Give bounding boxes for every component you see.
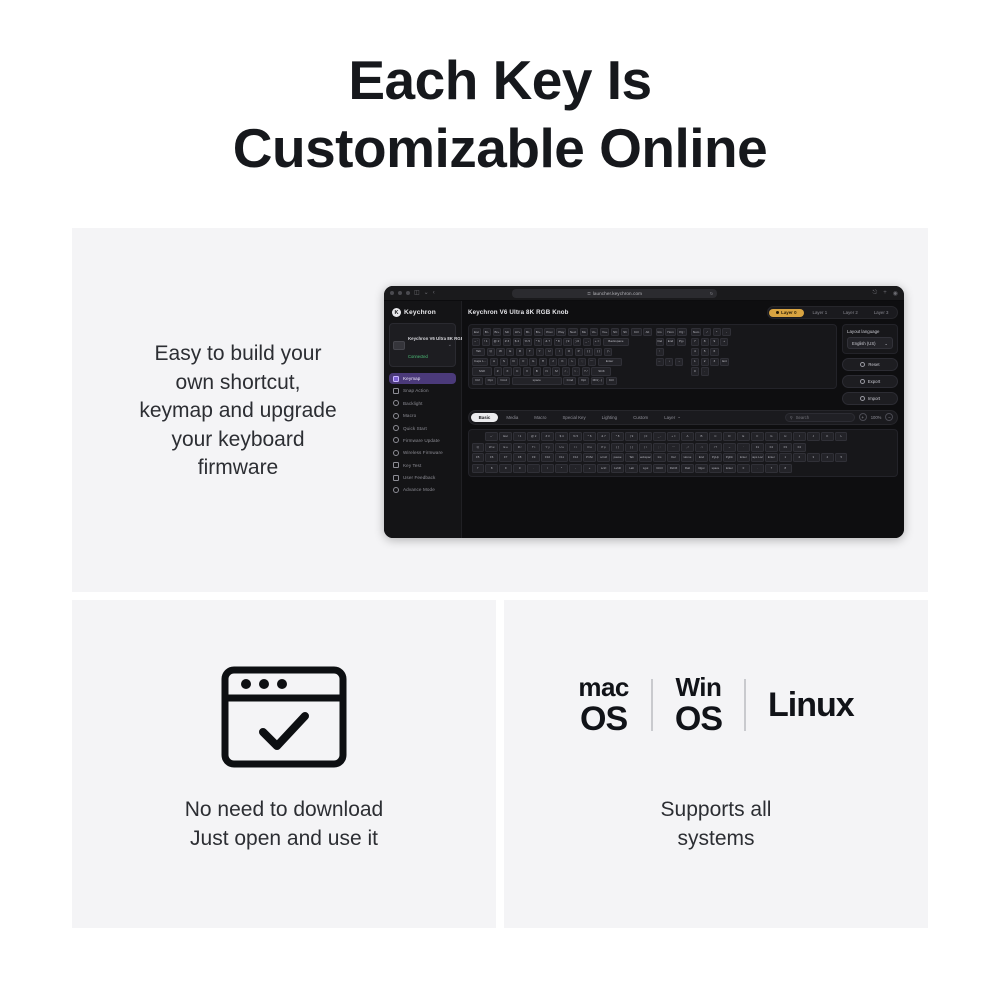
key-picker-key[interactable]: Lgui bbox=[639, 464, 651, 473]
keyboard-row: CtrlOptCmdspaceCmdOptMO(...)Ctrl bbox=[472, 377, 652, 385]
keyboard-key[interactable]: ↓ bbox=[665, 358, 673, 366]
key-picker-key[interactable]: F8 bbox=[513, 453, 525, 462]
keyboard-key[interactable]: R bbox=[516, 348, 524, 356]
key-picker-key[interactable]: PgUp bbox=[709, 453, 721, 462]
key-picker-key[interactable]: F12 bbox=[569, 453, 581, 462]
keyboard-key[interactable]: O bbox=[565, 348, 573, 356]
keyboard-key[interactable]: Y bbox=[536, 348, 544, 356]
key-picker-key[interactable]: $ 4 bbox=[555, 432, 567, 441]
keyboard-key[interactable]: Backspace bbox=[603, 338, 629, 346]
key-picker-key[interactable]: J bbox=[807, 432, 819, 441]
key-picker-key[interactable]: I bbox=[793, 432, 805, 441]
keyboard-key[interactable]: Num bbox=[691, 328, 702, 336]
macro-icon bbox=[393, 413, 399, 419]
keyboard-key[interactable]: Ctrl bbox=[472, 377, 483, 385]
snap-action-icon bbox=[393, 388, 399, 394]
keyboard-key[interactable]: # 3 bbox=[503, 338, 511, 346]
key-picker-key[interactable]: B bbox=[695, 432, 707, 441]
key-picker-key[interactable]: * bbox=[555, 464, 567, 473]
key-picker-key[interactable]: scroll bbox=[597, 453, 609, 462]
key-picker-key[interactable]: I i bbox=[569, 443, 581, 452]
keyboard-row: ShiftZXCVBNM< ,> .? /Shift bbox=[472, 367, 652, 375]
key-picker-key[interactable]: W w bbox=[485, 443, 497, 452]
keyboard-key[interactable]: Z bbox=[494, 367, 502, 375]
sidebar-toggle-icon[interactable]: ◫ bbox=[414, 290, 420, 296]
key-picker-key[interactable]: Del bbox=[667, 453, 679, 462]
app-window: ◫ ⌄ ‹ ⚿ launcher.keychron.com ↻ ⎋ + ◉ bbox=[384, 286, 904, 538]
key-picker-key[interactable]: Caps Lock bbox=[751, 453, 763, 462]
keyboard-row: 456 bbox=[691, 348, 731, 356]
keyboard-key[interactable]: B bbox=[533, 367, 541, 375]
keyboard-key[interactable]: S bbox=[500, 358, 508, 366]
tab-special-key[interactable]: Special Key bbox=[554, 413, 593, 422]
key-picker-key[interactable]: D bbox=[723, 432, 735, 441]
keyboard-key[interactable]: MO(...) bbox=[591, 377, 605, 385]
keyboard-row: TabQWERTYUIOP{ [} ]| \ bbox=[472, 348, 652, 356]
key-picker-key[interactable]: Q bbox=[472, 443, 484, 452]
keyboard-key[interactable]: W bbox=[496, 348, 504, 356]
titlebar-left-controls: ◫ ⌄ ‹ bbox=[390, 290, 435, 296]
app-sidebar: K Keychron Keychron V6 Ultra 8K RGB... C… bbox=[384, 301, 462, 538]
import-button[interactable]: Import bbox=[842, 392, 898, 405]
key-picker-key[interactable]: Rshift bbox=[667, 464, 679, 473]
tab-macro[interactable]: Macro bbox=[526, 413, 554, 422]
key-picker-key[interactable]: F bbox=[751, 432, 763, 441]
key-picker-key[interactable]: Y y bbox=[541, 443, 553, 452]
key-picker-key[interactable]: / bbox=[541, 464, 553, 473]
sidebar-item-label: Keymap bbox=[403, 376, 420, 381]
keyboard-numpad-block: Num/*-789+456123Ent0. bbox=[691, 328, 731, 385]
key-picker-key[interactable]: F4 bbox=[793, 443, 805, 452]
keyboard-key[interactable]: K bbox=[558, 358, 566, 366]
key-picker-key[interactable]: | \ bbox=[639, 443, 651, 452]
keyboard-key[interactable]: Opt bbox=[578, 377, 589, 385]
keyboard-key[interactable]: ^ 6 bbox=[534, 338, 542, 346]
keyboard-key[interactable]: 5 bbox=[701, 348, 709, 356]
headline-line-1: Each Key Is bbox=[348, 49, 651, 111]
tab-layer-1[interactable]: Layer 1 bbox=[806, 309, 835, 317]
device-info: Keychron V6 Ultra 8K RGB... Connected bbox=[408, 327, 445, 363]
keyboard-key[interactable]: + = bbox=[593, 338, 601, 346]
keyboard-key[interactable]: Tab bbox=[472, 348, 485, 356]
key-picker-key[interactable]: ~ bbox=[723, 443, 735, 452]
key-picker-key[interactable]: PrtSc bbox=[583, 453, 595, 462]
tab-media[interactable]: Media bbox=[498, 413, 526, 422]
keyboard-key[interactable]: < , bbox=[562, 367, 570, 375]
key-picker-key[interactable]: Esc bbox=[499, 432, 511, 441]
key-picker-key[interactable]: O o bbox=[583, 443, 595, 452]
keyboard-key[interactable]: 4 bbox=[691, 348, 699, 356]
key-picker-key[interactable]: ' " bbox=[667, 443, 679, 452]
keyboard-key[interactable]: " ' bbox=[588, 358, 596, 366]
key-picker-key[interactable]: F10 bbox=[541, 453, 553, 462]
sidebar-item-wireless-firmware[interactable]: Wireless Firmware bbox=[389, 447, 456, 458]
search-input[interactable]: ⚲ Search bbox=[785, 413, 855, 422]
keyboard-key[interactable]: _ - bbox=[583, 338, 591, 346]
keyboard-key[interactable]: Alt bbox=[643, 328, 651, 336]
key-picker-row: F5F6F7F8F9F10F11F12PrtScscrollpauseTabBa… bbox=[472, 453, 895, 462]
keyboard-key[interactable]: Q bbox=[487, 348, 495, 356]
tab-layer[interactable]: Layer ⌄ bbox=[656, 413, 689, 423]
chevron-down-icon[interactable]: ⌄ bbox=[448, 342, 452, 348]
key-picker-key[interactable]: P p bbox=[597, 443, 609, 452]
keyboard-key[interactable]: Next bbox=[568, 328, 578, 336]
key-picker-key[interactable]: @ 2 bbox=[527, 432, 539, 441]
keyboard-key[interactable]: F bbox=[519, 358, 527, 366]
keyboard-key[interactable]: N bbox=[543, 367, 551, 375]
back-icon[interactable]: ‹ bbox=[433, 290, 435, 296]
keyboard-key[interactable]: Cmd bbox=[497, 377, 510, 385]
keyboard-key[interactable]: Br- bbox=[524, 328, 532, 336]
keyboard-key[interactable] bbox=[710, 367, 718, 375]
reset-icon bbox=[860, 362, 865, 367]
search-placeholder: Search bbox=[796, 415, 809, 420]
key-picker-key[interactable]: E bbox=[737, 432, 749, 441]
key-picker-grid[interactable]: ¬ `Esc! 1@ 2# 3$ 4% 5^ 6& 7* 8( 9) 0_ -+… bbox=[468, 429, 898, 477]
sidebar-item-label: Key Test bbox=[403, 463, 421, 468]
key-picker-key[interactable]: * 8 bbox=[611, 432, 623, 441]
key-picker-key[interactable]: F6 bbox=[485, 453, 497, 462]
tab-label: Layer bbox=[664, 415, 675, 420]
keyboard-key[interactable]: U bbox=[545, 348, 553, 356]
keyboard-key[interactable]: ← bbox=[656, 358, 664, 366]
key-picker-key[interactable]: Ralt bbox=[681, 464, 693, 473]
key-picker-key[interactable]: 7 bbox=[472, 464, 484, 473]
zoom-out-button[interactable]: − bbox=[885, 413, 893, 421]
keyboard-key[interactable]: Sh bbox=[621, 328, 629, 336]
keyboard-key[interactable]: ! 1 bbox=[482, 338, 490, 346]
reset-button[interactable]: Reset bbox=[842, 358, 898, 371]
tools-panel: Layout language English (US) ⌄ Reset bbox=[842, 324, 898, 405]
sidebar-item-snap-action[interactable]: Snap Action bbox=[389, 385, 456, 396]
keyboard-key[interactable]: M bbox=[552, 367, 560, 375]
key-picker-key[interactable]: L bbox=[835, 432, 847, 441]
keyboard-key[interactable]: 7 bbox=[691, 338, 699, 346]
keyboard-key[interactable]: Del bbox=[656, 338, 665, 346]
key-picker-key[interactable]: Lshift bbox=[611, 464, 623, 473]
sidebar-item-backlight[interactable]: Backlight bbox=[389, 398, 456, 409]
sidebar-item-user-feedback[interactable]: User Feedback bbox=[389, 472, 456, 483]
key-picker-key[interactable]: Enter bbox=[723, 464, 735, 473]
device-status-badge: Connected bbox=[408, 354, 428, 359]
key-picker-key[interactable]: E e bbox=[499, 443, 511, 452]
keyboard-preview[interactable]: EscBr-Br+McLP+Br-Br+PrevPlayNextMuVo-Vo+… bbox=[468, 324, 837, 389]
keyboard-key[interactable]: Hom bbox=[665, 328, 676, 336]
backlight-icon bbox=[393, 400, 399, 406]
refresh-icon[interactable]: ↻ bbox=[710, 291, 713, 296]
keyboard-key[interactable]: 2 bbox=[701, 358, 709, 366]
key-picker-key[interactable]: R r bbox=[513, 443, 525, 452]
sidebar-item-firmware-update[interactable]: Firmware Update bbox=[389, 435, 456, 446]
sidebar-item-label: Quick Start bbox=[403, 426, 427, 431]
key-picker-key[interactable]: F5 bbox=[472, 453, 484, 462]
sidebar-item-quick-start[interactable]: Quick Start bbox=[389, 423, 456, 434]
keyboard-key[interactable]: SC bbox=[611, 328, 619, 336]
keyboard-key[interactable]: $ 4 bbox=[513, 338, 521, 346]
layer-dot-icon bbox=[776, 311, 779, 314]
button-label: Reset bbox=[868, 362, 879, 367]
keyboard-key[interactable]: T bbox=[526, 348, 534, 356]
keyboard-key[interactable]: P bbox=[575, 348, 583, 356]
keyboard-key[interactable]: V bbox=[523, 367, 531, 375]
key-picker-key[interactable]: ; : bbox=[653, 443, 665, 452]
sidebar-item-advance-mode[interactable]: Advance Mode bbox=[389, 484, 456, 495]
address-bar[interactable]: ⚿ launcher.keychron.com ↻ bbox=[512, 289, 717, 298]
key-picker-key[interactable]: _ - bbox=[653, 432, 665, 441]
key-picker-key[interactable]: F3 bbox=[779, 443, 791, 452]
key-picker-key[interactable]: PgDn bbox=[723, 453, 735, 462]
key-picker-key[interactable]: 5 bbox=[835, 453, 847, 462]
key-picker-key[interactable]: 0 bbox=[513, 464, 525, 473]
keyboard-key[interactable]: Vo+ bbox=[600, 328, 609, 336]
import-icon bbox=[860, 396, 865, 401]
key-picker-key[interactable]: Enter bbox=[765, 453, 777, 462]
key-picker-key[interactable]: T t bbox=[527, 443, 539, 452]
keyboard-key[interactable]: . bbox=[701, 367, 709, 375]
tab-basic[interactable]: Basic bbox=[471, 413, 499, 422]
key-picker-key[interactable]: Tab bbox=[625, 453, 637, 462]
keyboard-key[interactable]: Ctrl bbox=[606, 377, 617, 385]
keyboard-key[interactable]: > . bbox=[572, 367, 580, 375]
chevron-down-icon: ⌄ bbox=[884, 341, 888, 346]
keyboard-key[interactable]: Shift bbox=[472, 367, 492, 375]
key-picker-key[interactable]: } ] bbox=[625, 443, 637, 452]
device-title: Keychron V6 Ultra 8K RGB Knob bbox=[468, 309, 569, 316]
keyboard-key[interactable]: Br+ bbox=[493, 328, 502, 336]
tab-lighting[interactable]: Lighting bbox=[594, 413, 625, 422]
app-main-panel: Keychron V6 Ultra 8K RGB Knob Layer 0 La… bbox=[462, 301, 904, 538]
keyboard-key[interactable]: Esc bbox=[472, 328, 481, 336]
keyboard-key[interactable]: 1 bbox=[691, 358, 699, 366]
key-picker-key[interactable]: 0 bbox=[737, 464, 749, 473]
keyboard-key[interactable]: Pg↓ bbox=[677, 338, 686, 346]
feature-card-no-download: No need to download Just open and use it bbox=[72, 600, 496, 928]
key-picker-key[interactable]: K bbox=[821, 432, 833, 441]
keyboard-key[interactable]: 3 bbox=[710, 358, 718, 366]
keyboard-key[interactable]: Shift bbox=[591, 367, 611, 375]
key-picker-key[interactable]: C bbox=[709, 432, 721, 441]
layer-tab-group: Layer 0 Layer 1 Layer 2 Layer 3 bbox=[767, 306, 898, 319]
key-picker-key[interactable]: ) 0 bbox=[639, 432, 651, 441]
keyboard-key[interactable]: * bbox=[713, 328, 721, 336]
chevron-down-icon[interactable]: ⌄ bbox=[424, 290, 429, 296]
key-picker-key[interactable]: 4 bbox=[821, 453, 833, 462]
key-picker-key[interactable]: ! 1 bbox=[513, 432, 525, 441]
key-picker-key[interactable]: F1 bbox=[751, 443, 763, 452]
keyboard-key[interactable]: Play bbox=[556, 328, 566, 336]
caption-line-1: No need to download bbox=[72, 796, 496, 825]
keyboard-key[interactable]: ? / bbox=[582, 367, 590, 375]
tab-layer-2[interactable]: Layer 2 bbox=[836, 309, 865, 317]
keyboard-key[interactable]: | \ bbox=[604, 348, 612, 356]
key-picker-key[interactable]: H bbox=[779, 432, 791, 441]
key-picker-key[interactable]: Rctrl bbox=[653, 464, 665, 473]
keyboard-key[interactable]: H bbox=[539, 358, 547, 366]
key-picker-key[interactable]: Enter bbox=[737, 453, 749, 462]
keyboard-key[interactable]: Ctrl bbox=[631, 328, 642, 336]
keyboard-row: ~ `! 1@ 2# 3$ 4% 5^ 6& 7* 8( 9) 0_ -+ =B… bbox=[472, 338, 652, 346]
tabs-icon[interactable]: ◉ bbox=[893, 290, 898, 297]
keyboard-key[interactable]: X bbox=[503, 367, 511, 375]
key-picker-key[interactable]: & 7 bbox=[597, 432, 609, 441]
feature-card-main: Easy to build your own shortcut, keymap … bbox=[72, 228, 928, 592]
keyboard-key[interactable]: C bbox=[513, 367, 521, 375]
key-picker-key[interactable]: , < bbox=[681, 443, 693, 452]
key-picker-key[interactable]: Home bbox=[681, 453, 693, 462]
keyboard-key[interactable]: J bbox=[549, 358, 557, 366]
keyboard-key[interactable]: * 8 bbox=[554, 338, 562, 346]
close-icon[interactable] bbox=[390, 291, 394, 295]
keyboard-key[interactable]: Enter bbox=[598, 358, 622, 366]
os-logo-row: mac OS Win OS Linux bbox=[504, 674, 928, 736]
key-picker-key[interactable]: / ? bbox=[709, 443, 721, 452]
copy-line: keymap and upgrade bbox=[88, 397, 388, 426]
keyboard-key[interactable]: 0 bbox=[691, 367, 699, 375]
keyboard-key[interactable]: 9 bbox=[710, 338, 718, 346]
feature-card-os-support: mac OS Win OS Linux Supports all systems bbox=[504, 600, 928, 928]
key-picker-key[interactable]: 9 bbox=[499, 464, 511, 473]
sidebar-item-label: Macro bbox=[403, 413, 416, 418]
tab-custom[interactable]: Custom bbox=[625, 413, 656, 422]
keyboard-key[interactable]: % 5 bbox=[523, 338, 532, 346]
device-selector[interactable]: Keychron V6 Ultra 8K RGB... Connected ⌄ bbox=[389, 323, 456, 367]
browser-titlebar: ◫ ⌄ ‹ ⚿ launcher.keychron.com ↻ ⎋ + ◉ bbox=[384, 286, 904, 301]
sidebar-item-label: User Feedback bbox=[403, 475, 435, 480]
keyboard-key[interactable]: 6 bbox=[710, 348, 718, 356]
share-icon[interactable]: ⎋ bbox=[872, 290, 877, 297]
minimize-icon[interactable] bbox=[398, 291, 402, 295]
key-picker-key[interactable]: # 3 bbox=[541, 432, 553, 441]
keyboard-key[interactable]: Ent bbox=[720, 358, 729, 366]
key-picker-key[interactable]: F2 bbox=[765, 443, 777, 452]
keyboard-key[interactable]: Prev bbox=[544, 328, 554, 336]
keyboard-key[interactable]: E bbox=[506, 348, 514, 356]
key-picker-key[interactable]: Rgui bbox=[695, 464, 707, 473]
key-picker-key[interactable]: % 5 bbox=[569, 432, 581, 441]
key-picker-key[interactable]: 7 bbox=[765, 464, 777, 473]
keyboard-key[interactable]: @ 2 bbox=[492, 338, 502, 346]
keyboard-key[interactable]: → bbox=[675, 358, 683, 366]
key-picker-key[interactable]: U u bbox=[555, 443, 567, 452]
export-button[interactable]: Export bbox=[842, 375, 898, 388]
maximize-icon[interactable] bbox=[406, 291, 410, 295]
key-picker-key[interactable]: space bbox=[709, 464, 721, 473]
key-picker-key[interactable]: F7 bbox=[499, 453, 511, 462]
keyboard-key[interactable]: Pg↑ bbox=[677, 328, 686, 336]
keyboard-key[interactable]: Br- bbox=[483, 328, 491, 336]
keyboard-key[interactable]: G bbox=[529, 358, 537, 366]
tab-layer-3[interactable]: Layer 3 bbox=[867, 309, 896, 317]
keyboard-key[interactable]: Mu bbox=[580, 328, 588, 336]
key-picker-key[interactable]: + = bbox=[667, 432, 679, 441]
keyboard-key[interactable]: } ] bbox=[594, 348, 602, 356]
key-picker-key[interactable]: ^ 6 bbox=[583, 432, 595, 441]
sidebar-item-macro[interactable]: Macro bbox=[389, 410, 456, 421]
key-picker-key[interactable]: { [ bbox=[611, 443, 623, 452]
keyboard-key[interactable]: + bbox=[720, 338, 728, 346]
sidebar-item-keymap[interactable]: Keymap bbox=[389, 373, 456, 384]
key-picker-key[interactable]: F9 bbox=[527, 453, 539, 462]
keyboard-key[interactable]: ~ ` bbox=[472, 338, 480, 346]
key-picker-key[interactable] bbox=[472, 432, 484, 441]
keyboard-key[interactable]: Ins bbox=[656, 328, 664, 336]
key-picker-key[interactable]: - bbox=[569, 464, 581, 473]
firmware-update-icon bbox=[393, 437, 399, 443]
key-picker-key[interactable]: ¬ ` bbox=[485, 432, 497, 441]
keyboard-key[interactable]: D bbox=[510, 358, 518, 366]
keyboard-key[interactable]: & 7 bbox=[543, 338, 552, 346]
advance-mode-icon bbox=[393, 487, 399, 493]
keyboard-key[interactable]: Cmd bbox=[563, 377, 576, 385]
key-picker-key[interactable]: G bbox=[765, 432, 777, 441]
keyboard-key[interactable]: space bbox=[512, 377, 562, 385]
key-picker-key[interactable]: Lalt bbox=[625, 464, 637, 473]
key-picker-key[interactable]: End bbox=[695, 453, 707, 462]
key-picker-key[interactable]: + bbox=[583, 464, 595, 473]
key-picker-key[interactable]: A bbox=[681, 432, 693, 441]
keyboard-key[interactable]: / bbox=[703, 328, 711, 336]
no-download-caption: No need to download Just open and use it bbox=[72, 796, 496, 853]
keyboard-key[interactable]: 8 bbox=[701, 338, 709, 346]
keyboard-key[interactable]: Vo- bbox=[590, 328, 599, 336]
keyboard-key[interactable]: LP+ bbox=[513, 328, 523, 336]
wireless-firmware-icon bbox=[393, 450, 399, 456]
key-picker-key[interactable]: Backspace bbox=[639, 453, 651, 462]
key-picker-key[interactable]: 3 bbox=[807, 453, 819, 462]
key-picker-key[interactable]: 8 bbox=[485, 464, 497, 473]
keyboard-key[interactable]: { [ bbox=[584, 348, 592, 356]
main-panel-row: EscBr-Br+McLP+Br-Br+PrevPlayNextMuVo-Vo+… bbox=[468, 324, 898, 405]
sidebar-item-key-test[interactable]: Key Test bbox=[389, 460, 456, 471]
keyboard-key[interactable]: ↑ bbox=[656, 348, 664, 356]
keyboard-key[interactable]: Opt bbox=[485, 377, 496, 385]
key-picker-row: QW wE eR rT tY yU uI iO oP p{ [} ]| \; :… bbox=[472, 443, 895, 452]
keyboard-key[interactable]: ( 9 bbox=[563, 338, 571, 346]
key-picker-key[interactable]: F11 bbox=[555, 453, 567, 462]
copy-line: your keyboard bbox=[88, 426, 388, 455]
key-picker-key[interactable]: 2 bbox=[793, 453, 805, 462]
key-picker-key[interactable]: 1 bbox=[779, 453, 791, 462]
key-picker-key[interactable]: . bbox=[751, 464, 763, 473]
key-picker-key[interactable]: . bbox=[527, 464, 539, 473]
divider bbox=[651, 679, 653, 731]
keyboard-sections: EscBr-Br+McLP+Br-Br+PrevPlayNextMuVo-Vo+… bbox=[472, 328, 833, 385]
keyboard-key[interactable]: End bbox=[666, 338, 676, 346]
keyboard-key[interactable]: Mc bbox=[503, 328, 511, 336]
keyboard-key[interactable]: I bbox=[555, 348, 563, 356]
key-picker-key[interactable]: Lctrl bbox=[597, 464, 609, 473]
keyboard-key[interactable]: A bbox=[490, 358, 498, 366]
tab-layer-0[interactable]: Layer 0 bbox=[769, 309, 803, 317]
key-picker-key[interactable]: ( 9 bbox=[625, 432, 637, 441]
layout-language-select[interactable]: English (US) ⌄ bbox=[847, 337, 893, 349]
zoom-in-button[interactable]: + bbox=[859, 413, 867, 421]
key-picker-key[interactable]: pause bbox=[611, 453, 623, 462]
keyboard-row: 0. bbox=[691, 367, 731, 375]
keyboard-key[interactable]: Br+ bbox=[534, 328, 543, 336]
key-picker-key[interactable]: 8 bbox=[779, 464, 791, 473]
keyboard-key[interactable]: - bbox=[722, 328, 730, 336]
key-picker-key[interactable]: ` bbox=[737, 443, 749, 452]
new-tab-icon[interactable]: + bbox=[883, 290, 887, 296]
copy-line: Easy to build your bbox=[88, 340, 388, 369]
key-picker-key[interactable]: . > bbox=[695, 443, 707, 452]
keyboard-key[interactable]: L bbox=[568, 358, 576, 366]
keyboard-key[interactable]: Caps L... bbox=[472, 358, 488, 366]
keyboard-key[interactable]: : ; bbox=[578, 358, 586, 366]
key-picker-key[interactable]: Ins bbox=[653, 453, 665, 462]
keyboard-key[interactable]: ) 0 bbox=[573, 338, 581, 346]
